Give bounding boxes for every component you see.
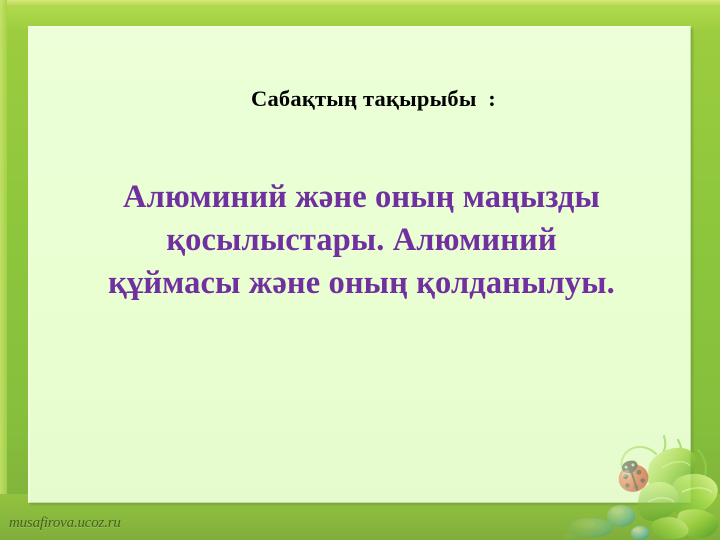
frame-top-highlight — [0, 0, 720, 7]
lesson-title-line-3: құймасы және оның қолданылуы. — [46, 262, 677, 305]
subject-label: Сабақтың тақырыбы : — [30, 86, 691, 112]
lesson-title: Алюминий және оның маңызды қосылыстары. … — [46, 176, 677, 305]
lesson-title-line-2: қосылыстары. Алюминий — [46, 219, 677, 262]
slide-canvas: Сабақтың тақырыбы : Алюминий және оның м… — [0, 0, 720, 540]
text-layer: Сабақтың тақырыбы : Алюминий және оның м… — [30, 28, 691, 503]
content-panel: Сабақтың тақырыбы : Алюминий және оның м… — [28, 26, 691, 503]
frame-left-highlight — [0, 0, 7, 540]
lesson-title-line-1: Алюминий және оның маңызды — [46, 176, 677, 219]
watermark-text: musafirova.ucoz.ru — [9, 515, 121, 532]
